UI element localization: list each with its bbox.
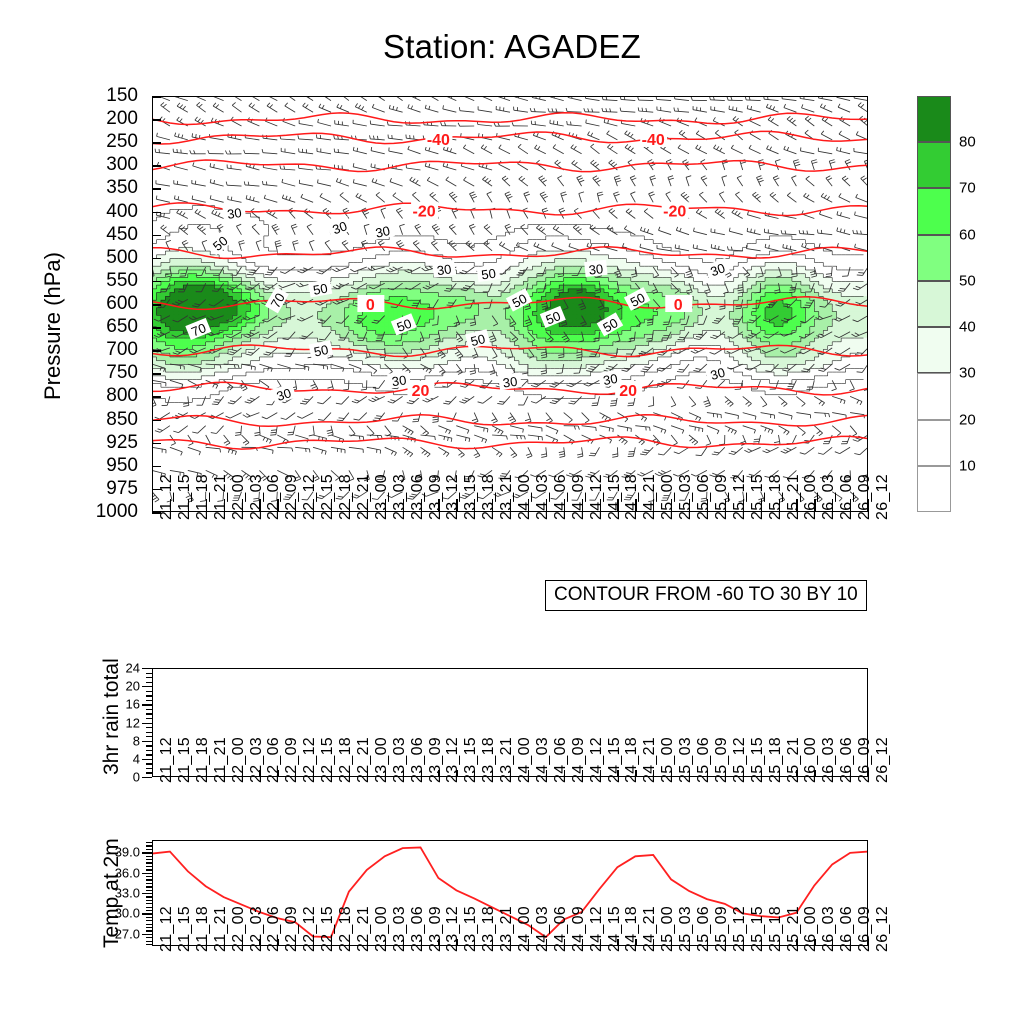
temp-y-minor-tick — [146, 849, 152, 850]
x-tick-label: 22_09 — [283, 474, 301, 520]
temp-x-tick-label: 24_18 — [623, 906, 641, 952]
temp-x-tick-label: 25_12 — [731, 906, 749, 952]
rain-x-tick-label: 25_00 — [659, 737, 677, 783]
colorbar-label: 30 — [959, 365, 976, 382]
temp-x-tick-label: 21_21 — [212, 906, 230, 952]
temp-x-tick-label: 22_18 — [337, 906, 355, 952]
temp-y-minor-tick — [146, 876, 152, 877]
temp-x-tick-label: 22_12 — [301, 906, 319, 952]
temp-y-tick-label: 27.0 — [94, 926, 140, 941]
rain-x-tick-label: 21_15 — [176, 737, 194, 783]
colorbar-swatch — [917, 373, 951, 419]
x-tick-label: 24_18 — [623, 474, 641, 520]
x-tick-label: 23_06 — [409, 474, 427, 520]
y-tick-mark — [152, 327, 161, 329]
x-tick-label: 26_00 — [802, 474, 820, 520]
y-tick-label: 750 — [78, 362, 138, 384]
y-tick-label: 350 — [78, 177, 138, 199]
temp-x-tick-label: 25_09 — [713, 906, 731, 952]
temp-x-tick-label: 24_12 — [588, 906, 606, 952]
temp-y-minor-tick — [146, 896, 152, 897]
x-tick-label: 25_12 — [731, 474, 749, 520]
colorbar-label: 70 — [959, 180, 976, 197]
rain-x-tick-label: 24_03 — [534, 737, 552, 783]
temp-y-tick-mark — [142, 852, 152, 853]
x-tick-label: 25_15 — [749, 474, 767, 520]
temp-y-minor-tick — [146, 856, 152, 857]
rain-y-minor-tick — [146, 691, 152, 692]
y-tick-mark — [152, 304, 161, 306]
rain-x-tick-label: 23_03 — [391, 737, 409, 783]
temp-x-tick-label: 26_03 — [820, 906, 838, 952]
x-tick-label: 23_12 — [444, 474, 462, 520]
x-tick-label: 24_00 — [516, 474, 534, 520]
rain-y-minor-tick — [146, 754, 152, 755]
colorbar-swatch — [917, 188, 951, 234]
x-tick-label: 23_15 — [462, 474, 480, 520]
rain-y-tick-mark — [142, 668, 152, 669]
rain-x-tick-label: 23_18 — [480, 737, 498, 783]
temp-y-minor-tick — [146, 903, 152, 904]
rain-x-tick-label: 24_00 — [516, 737, 534, 783]
x-tick-label: 24_21 — [641, 474, 659, 520]
rain-y-minor-tick — [146, 768, 152, 769]
temp-y-minor-tick — [146, 910, 152, 911]
rain-y-tick-label: 20 — [100, 679, 140, 694]
temp-x-tick-label: 25_00 — [659, 906, 677, 952]
colorbar-swatch — [917, 281, 951, 327]
y-tick-label: 650 — [78, 316, 138, 338]
rain-x-tick-label: 26_09 — [856, 737, 874, 783]
rain-y-tick-label: 4 — [100, 751, 140, 766]
temp-x-tick-label: 21_15 — [176, 906, 194, 952]
temp-x-tick-label: 24_09 — [570, 906, 588, 952]
temp-y-tick-label: 39.0 — [94, 845, 140, 860]
temp-y-minor-tick — [146, 927, 152, 928]
temp-y-minor-tick — [146, 859, 152, 860]
y-tick-label: 250 — [78, 131, 138, 153]
rain-x-tick-label: 25_15 — [749, 737, 767, 783]
temp-x-tick-label: 22_06 — [265, 906, 283, 952]
x-tick-label: 26_12 — [874, 474, 892, 520]
y-tick-label: 850 — [78, 409, 138, 431]
temp-x-tick-label: 21_12 — [158, 906, 176, 952]
y-tick-mark — [152, 142, 161, 144]
page-title: Station: AGADEZ — [0, 28, 1024, 66]
temp-x-tick-label: 23_15 — [462, 906, 480, 952]
rain-y-minor-tick — [146, 695, 152, 696]
temp-y-tick-mark — [142, 873, 152, 874]
rain-y-minor-tick — [146, 713, 152, 714]
x-tick-label: 25_18 — [767, 474, 785, 520]
rain-x-tick-label: 22_06 — [265, 737, 283, 783]
rain-x-tick-label: 24_06 — [552, 737, 570, 783]
temp-x-tick-label: 26_00 — [802, 906, 820, 952]
colorbar-swatch — [917, 235, 951, 281]
y-tick-label: 300 — [78, 154, 138, 176]
y-tick-label: 450 — [78, 224, 138, 246]
rain-y-minor-tick — [146, 732, 152, 733]
rain-x-tick-label: 21_18 — [194, 737, 212, 783]
temp-y-minor-tick — [146, 883, 152, 884]
y-tick-mark — [152, 258, 161, 260]
x-tick-mark — [152, 499, 153, 512]
rain-y-tick-label: 12 — [100, 715, 140, 730]
rain-x-tick-label: 22_12 — [301, 737, 319, 783]
x-tick-label: 25_09 — [713, 474, 731, 520]
rain-x-tick-label: 23_00 — [373, 737, 391, 783]
rain-y-minor-tick — [146, 682, 152, 683]
chart-canvas: Station: AGADEZ Pressure (hPa) 150200250… — [0, 0, 1024, 1024]
temp-x-tick-label: 23_00 — [373, 906, 391, 952]
y-tick-label: 500 — [78, 247, 138, 269]
rain-x-tick-label: 24_21 — [641, 737, 659, 783]
temp-x-tick-label: 23_09 — [427, 906, 445, 952]
temp-y-minor-tick — [146, 879, 152, 880]
y-tick-mark — [152, 212, 161, 214]
temp-x-tick-label: 23_21 — [498, 906, 516, 952]
temp-y-minor-tick — [146, 890, 152, 891]
rain-x-tick-label: 26_12 — [874, 737, 892, 783]
rain-x-tick-label: 23_06 — [409, 737, 427, 783]
temp-x-tick-label: 26_09 — [856, 906, 874, 952]
y-tick-label: 150 — [78, 85, 138, 107]
temp-x-tick-label: 24_21 — [641, 906, 659, 952]
temp-y-minor-tick — [146, 869, 152, 870]
rain-y-minor-tick — [146, 709, 152, 710]
rain-x-tick-label: 25_09 — [713, 737, 731, 783]
x-tick-label: 24_12 — [588, 474, 606, 520]
contour-note: CONTOUR FROM -60 TO 30 BY 10 — [545, 580, 867, 611]
y-tick-mark — [152, 420, 161, 422]
rain-y-tick-mark — [142, 723, 152, 724]
rain-y-minor-tick — [146, 700, 152, 701]
rain-y-minor-tick — [146, 745, 152, 746]
rain-y-tick-label: 16 — [100, 697, 140, 712]
rain-y-minor-tick — [146, 718, 152, 719]
rain-x-tick-label: 26_06 — [838, 737, 856, 783]
rain-x-tick-label: 22_15 — [319, 737, 337, 783]
x-tick-label: 22_00 — [230, 474, 248, 520]
rain-y-minor-tick — [146, 763, 152, 764]
colorbar-label: 60 — [959, 226, 976, 243]
temp-y-tick-mark — [142, 893, 152, 894]
rain-y-tick-mark — [142, 704, 152, 705]
rain-y-tick-mark — [142, 686, 152, 687]
y-tick-label: 400 — [78, 201, 138, 223]
temp-x-tick-label: 22_00 — [230, 906, 248, 952]
temp-x-tick-label: 25_18 — [767, 906, 785, 952]
rain-x-tick-label: 24_15 — [606, 737, 624, 783]
temp-x-tick-label: 25_15 — [749, 906, 767, 952]
colorbar-swatch — [917, 420, 951, 466]
rain-y-minor-tick — [146, 750, 152, 751]
temp-y-minor-tick — [146, 842, 152, 843]
temp-x-tick-label: 22_09 — [283, 906, 301, 952]
colorbar-swatch — [917, 466, 951, 512]
y-tick-label: 550 — [78, 270, 138, 292]
x-tick-label: 25_00 — [659, 474, 677, 520]
x-tick-label: 26_06 — [838, 474, 856, 520]
temp-x-tick-label: 26_12 — [874, 906, 892, 952]
x-tick-label: 25_03 — [677, 474, 695, 520]
x-tick-label: 21_12 — [158, 474, 176, 520]
rain-y-minor-tick — [146, 673, 152, 674]
rain-y-tick-label: 0 — [100, 770, 140, 785]
x-tick-label: 23_00 — [373, 474, 391, 520]
temp-x-tick-label: 24_03 — [534, 906, 552, 952]
rain-y-minor-tick — [146, 727, 152, 728]
rain-x-tick-label: 25_21 — [785, 737, 803, 783]
x-tick-label: 24_06 — [552, 474, 570, 520]
rain-x-tick-label: 22_00 — [230, 737, 248, 783]
temp-x-tick-label: 26_06 — [838, 906, 856, 952]
temp-x-tick-label: 25_21 — [785, 906, 803, 952]
rain-x-tick-label: 22_21 — [355, 737, 373, 783]
rain-y-tick-mark — [142, 777, 152, 778]
x-tick-label: 24_03 — [534, 474, 552, 520]
temp-y-minor-tick — [146, 866, 152, 867]
x-tick-label: 24_15 — [606, 474, 624, 520]
temp-x-tick-label: 23_03 — [391, 906, 409, 952]
y-tick-label: 950 — [78, 455, 138, 477]
y-tick-mark — [152, 396, 161, 398]
colorbar-label: 50 — [959, 272, 976, 289]
y-tick-mark — [152, 466, 161, 468]
temp-y-tick-mark — [142, 934, 152, 935]
x-tick-label: 23_18 — [480, 474, 498, 520]
x-tick-label: 23_03 — [391, 474, 409, 520]
x-tick-label: 22_06 — [265, 474, 283, 520]
x-tick-label: 22_15 — [319, 474, 337, 520]
rain-y-tick-label: 8 — [100, 733, 140, 748]
main-plot-frame — [152, 96, 868, 512]
temp-x-tick-label: 22_03 — [248, 906, 266, 952]
rain-x-tick-label: 24_18 — [623, 737, 641, 783]
colorbar-label: 10 — [959, 457, 976, 474]
colorbar-swatch — [917, 96, 951, 142]
x-tick-label: 23_21 — [498, 474, 516, 520]
temp-y-tick-label: 33.0 — [94, 886, 140, 901]
temp-y-minor-tick — [146, 907, 152, 908]
colorbar-swatch — [917, 327, 951, 373]
y-tick-mark — [152, 281, 161, 283]
temp-y-minor-tick — [146, 920, 152, 921]
y-tick-label: 975 — [78, 478, 138, 500]
temp-x-tick-label: 25_03 — [677, 906, 695, 952]
pressure-axis-title: Pressure (hPa) — [40, 252, 66, 400]
x-tick-label: 21_15 — [176, 474, 194, 520]
rain-x-tick-label: 25_12 — [731, 737, 749, 783]
temp-x-tick-label: 24_06 — [552, 906, 570, 952]
colorbar-swatch — [917, 142, 951, 188]
x-tick-label: 25_06 — [695, 474, 713, 520]
temp-y-minor-tick — [146, 917, 152, 918]
x-tick-label: 22_12 — [301, 474, 319, 520]
x-tick-label: 22_03 — [248, 474, 266, 520]
y-tick-mark — [152, 235, 161, 237]
x-tick-label: 25_21 — [785, 474, 803, 520]
temp-x-tick-label: 22_21 — [355, 906, 373, 952]
temp-y-tick-label: 36.0 — [94, 865, 140, 880]
temp-x-tick-label: 23_12 — [444, 906, 462, 952]
y-tick-label: 925 — [78, 432, 138, 454]
temp-x-tick-label: 23_06 — [409, 906, 427, 952]
rain-x-tick-label: 22_09 — [283, 737, 301, 783]
temp-x-tick-label: 21_18 — [194, 906, 212, 952]
rain-y-minor-tick — [146, 736, 152, 737]
x-tick-label: 21_18 — [194, 474, 212, 520]
temp-y-tick-label: 30.0 — [94, 906, 140, 921]
y-tick-mark — [152, 350, 161, 352]
colorbar-label: 40 — [959, 319, 976, 336]
temp-x-tick-mark — [152, 939, 153, 946]
rain-x-tick-mark — [152, 770, 153, 777]
rain-y-minor-tick — [146, 677, 152, 678]
temp-y-tick-mark — [142, 913, 152, 914]
colorbar-label: 20 — [959, 411, 976, 428]
y-tick-label: 700 — [78, 339, 138, 361]
y-tick-mark — [152, 443, 161, 445]
rain-x-tick-label: 26_00 — [802, 737, 820, 783]
temp-x-tick-label: 22_15 — [319, 906, 337, 952]
y-tick-label: 1000 — [78, 501, 138, 523]
temp-y-minor-tick — [146, 900, 152, 901]
humidity-colorbar: 8070605040302010 — [917, 96, 951, 512]
temp-x-tick-label: 23_18 — [480, 906, 498, 952]
y-tick-label: 800 — [78, 385, 138, 407]
temp-y-minor-tick — [146, 886, 152, 887]
y-tick-label: 200 — [78, 108, 138, 130]
rain-y-tick-label: 24 — [100, 661, 140, 676]
colorbar-label: 80 — [959, 134, 976, 151]
x-tick-label: 21_21 — [212, 474, 230, 520]
rain-x-tick-label: 25_18 — [767, 737, 785, 783]
temp-x-tick-label: 24_15 — [606, 906, 624, 952]
rain-x-tick-label: 23_15 — [462, 737, 480, 783]
x-tick-label: 22_21 — [355, 474, 373, 520]
rain-y-tick-mark — [142, 741, 152, 742]
x-tick-label: 23_09 — [427, 474, 445, 520]
temp-x-tick-label: 25_06 — [695, 906, 713, 952]
temp-y-minor-tick — [146, 924, 152, 925]
rain-x-tick-label: 26_03 — [820, 737, 838, 783]
rain-x-tick-label: 22_18 — [337, 737, 355, 783]
rain-x-tick-label: 24_12 — [588, 737, 606, 783]
rain-x-tick-label: 23_21 — [498, 737, 516, 783]
temp-y-minor-tick — [146, 930, 152, 931]
rain-y-tick-mark — [142, 759, 152, 760]
x-tick-label: 26_09 — [856, 474, 874, 520]
y-tick-mark — [152, 373, 161, 375]
rain-x-tick-label: 25_03 — [677, 737, 695, 783]
y-tick-label: 600 — [78, 293, 138, 315]
y-tick-mark — [152, 165, 161, 167]
y-tick-mark — [152, 119, 161, 121]
temp-y-minor-tick — [146, 845, 152, 846]
x-tick-label: 26_03 — [820, 474, 838, 520]
rain-x-tick-label: 24_09 — [570, 737, 588, 783]
temp-x-tick-label: 24_00 — [516, 906, 534, 952]
y-tick-mark — [152, 188, 161, 190]
temp-y-minor-tick — [146, 862, 152, 863]
rain-x-tick-label: 21_12 — [158, 737, 176, 783]
time-height-cross-section: -40-40-20-200020203050707050303050305050… — [152, 96, 868, 512]
x-tick-label: 24_09 — [570, 474, 588, 520]
x-tick-label: 22_18 — [337, 474, 355, 520]
rain-x-tick-label: 25_06 — [695, 737, 713, 783]
rain-x-tick-label: 22_03 — [248, 737, 266, 783]
rain-x-tick-label: 23_09 — [427, 737, 445, 783]
rain-x-tick-label: 23_12 — [444, 737, 462, 783]
y-tick-mark — [152, 96, 161, 98]
rain-x-tick-label: 21_21 — [212, 737, 230, 783]
